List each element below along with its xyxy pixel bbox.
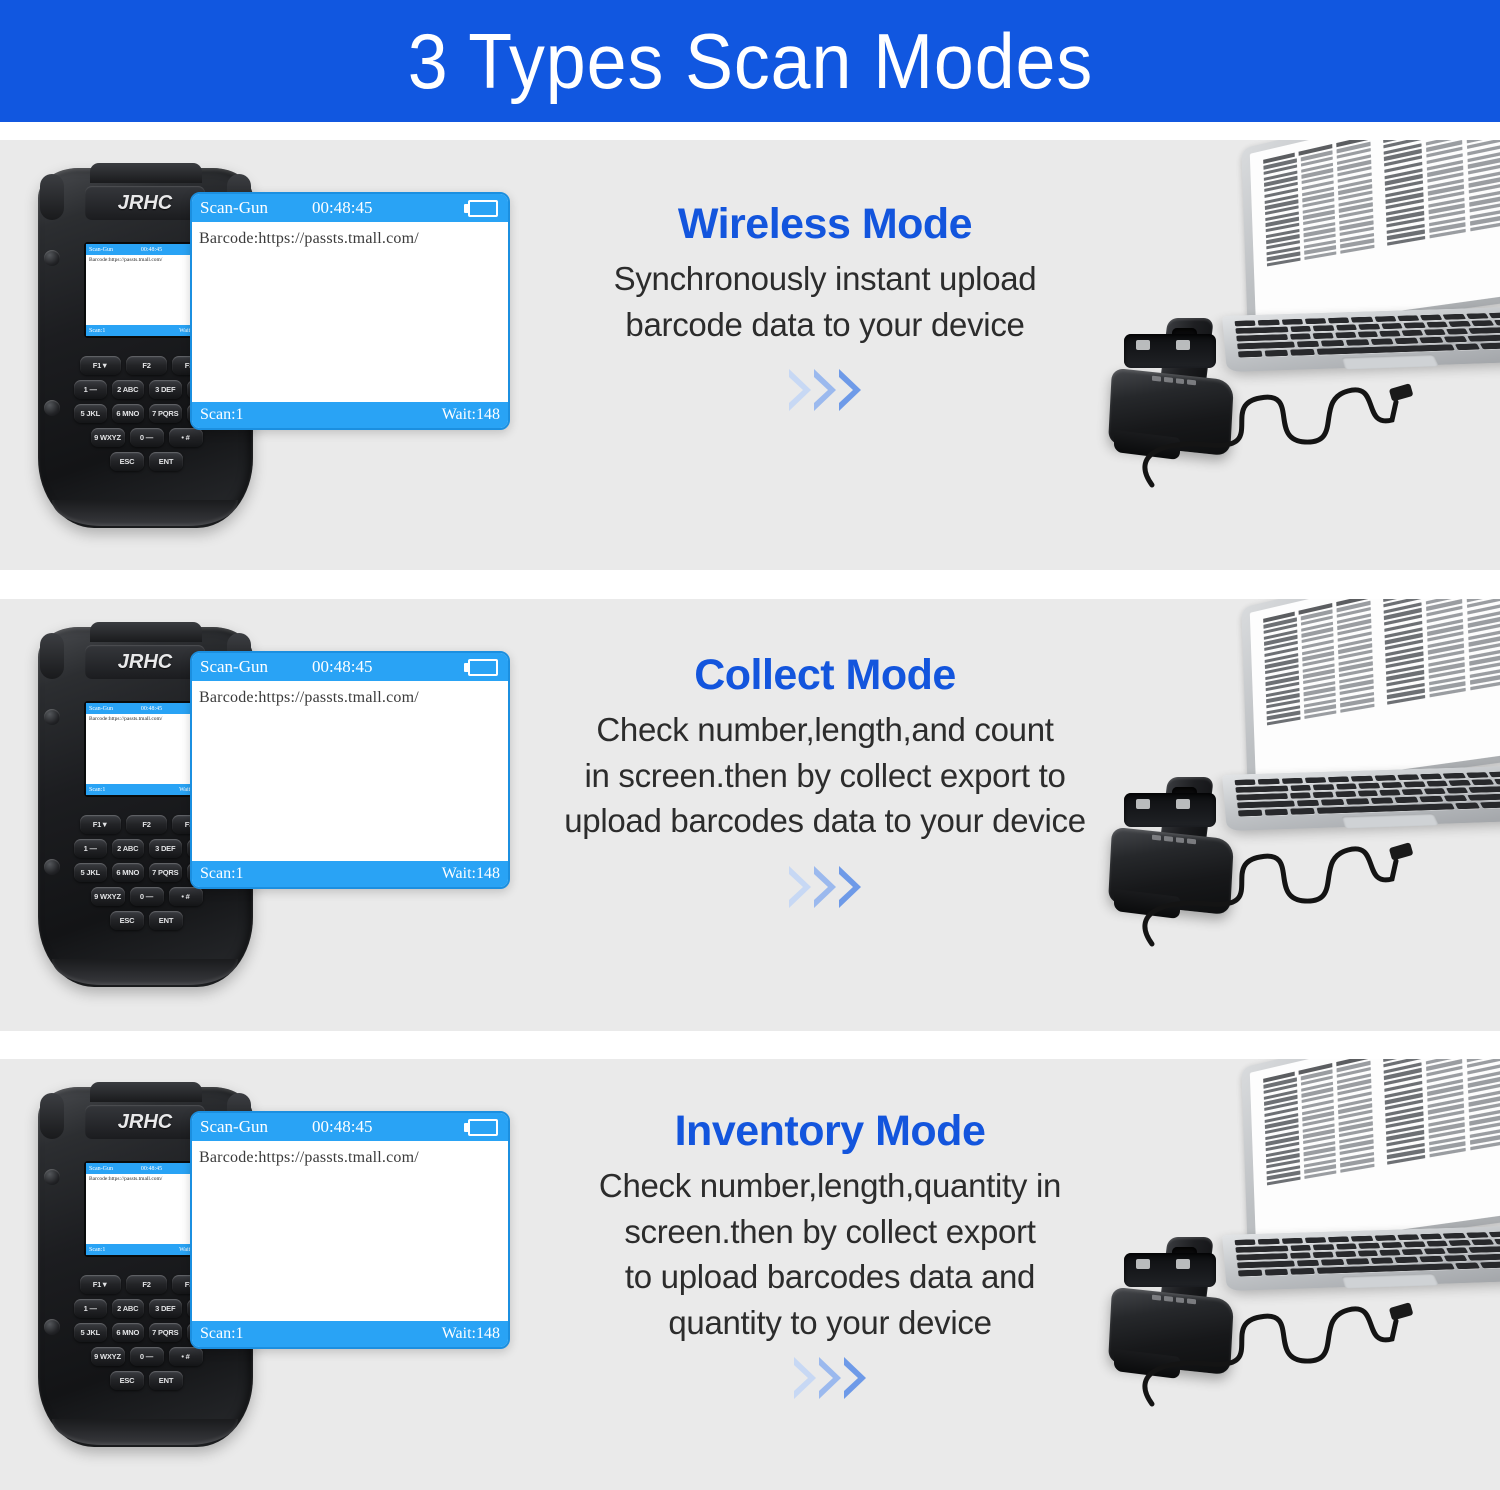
lcd-app-name: Scan-Gun [200,657,312,677]
lcd-app-name: Scan-Gun [200,1117,312,1137]
device-shoulder-left [40,633,64,679]
mode-panel-inventory: JRHC Scan-Gun 00:48:45 Barcode:https://p… [0,1059,1500,1490]
computer-and-cradle-group [1100,599,1500,1031]
keypad-row: 9 WXYZ 0 — • # [74,1347,219,1366]
device-bottom-rim [52,500,238,526]
mode-title: Collect Mode [505,651,1145,699]
mode-description-line: to upload barcodes data and [530,1254,1130,1300]
brand-logo: JRHC [118,651,172,674]
device-screw-icon [44,1169,60,1185]
mode-description: Check number,length,and count in screen.… [505,707,1145,844]
mode-description: Check number,length,quantity in screen.t… [530,1163,1130,1345]
inline-barcode-text: Barcode:https://passts.tmall.com/ [86,255,204,325]
battery-icon [464,199,498,218]
mode-description-line: Check number,length,and count [505,707,1145,753]
mode-description-line: Check number,length,quantity in [530,1163,1130,1209]
lcd-titlebar: Scan-Gun 00:48:45 [192,653,508,681]
computer-and-cradle-group [1100,1059,1500,1490]
key-6[interactable]: 6 MNO [112,1323,145,1342]
mode-description-line: quantity to your device [530,1300,1130,1346]
inline-clock: 00:48:45 [141,247,162,253]
lcd-statusbar: Scan:1 Wait:148 [192,861,508,887]
chevron-right-icon [819,1357,841,1399]
lcd-barcode-text: Barcode:https://passts.tmall.com/ [192,1141,508,1321]
lcd-scan-count: Scan:1 [200,865,244,883]
computer-and-cradle-group [1100,140,1500,570]
inline-app-name: Scan-Gun [89,247,113,253]
mode-description-line: screen.then by collect export [530,1209,1130,1255]
key-6[interactable]: 6 MNO [112,863,145,882]
key-3[interactable]: 3 DEF [149,380,182,399]
chevron-right-icon [844,1357,866,1399]
inline-screen-titlebar: Scan-Gun 00:48:45 [86,244,204,255]
device-inline-screen: Scan-Gun 00:48:45 Barcode:https://passts… [86,1163,204,1255]
inline-screen-statusbar: Scan:1 Wait:148 [86,325,204,336]
mode-description-line: upload barcodes data to your device [505,798,1145,844]
key-9[interactable]: 9 WXYZ [91,428,125,447]
key-2[interactable]: 2 ABC [112,380,145,399]
brand-plate: JRHC [85,1105,205,1139]
key-2[interactable]: 2 ABC [112,839,145,858]
inline-barcode-text: Barcode:https://passts.tmall.com/ [86,1174,204,1244]
chevron-right-icon [789,369,811,411]
lcd-scan-count: Scan:1 [200,406,244,424]
key-7[interactable]: 7 PQRS [149,404,182,423]
mode-description: Synchronously instant upload barcode dat… [530,256,1120,347]
keypad-row: ESC ENT [74,452,219,471]
key-2[interactable]: 2 ABC [112,1299,145,1318]
enlarged-screen-popup: Scan-Gun 00:48:45 Barcode:https://passts… [190,1111,510,1349]
brand-logo: JRHC [118,192,172,215]
mode-description-line: Synchronously instant upload [530,256,1120,302]
key-9[interactable]: 9 WXYZ [91,887,125,906]
mode-textblock: Collect Mode Check number,length,and cou… [505,651,1145,908]
spreadsheet-column [1383,599,1500,762]
inline-app-name: Scan-Gun [89,1166,113,1172]
page-title: 3 Types Scan Modes [407,22,1092,100]
lcd-barcode-text: Barcode:https://passts.tmall.com/ [192,222,508,402]
page-header: 3 Types Scan Modes [0,0,1500,122]
lcd-statusbar: Scan:1 Wait:148 [192,402,508,428]
key-6[interactable]: 6 MNO [112,404,145,423]
spreadsheet-column [1383,140,1500,303]
lcd-barcode-text: Barcode:https://passts.tmall.com/ [192,681,508,861]
key-3[interactable]: 3 DEF [149,1299,182,1318]
key-f1[interactable]: F1▼ [80,1275,121,1294]
usb-cable [1100,290,1500,490]
device-inline-screen: Scan-Gun 00:48:45 Barcode:https://passts… [86,244,204,336]
chevron-right-icon [789,866,811,908]
key-f2[interactable]: F2 [126,356,167,375]
key-symbol[interactable]: • # [169,887,203,906]
inline-clock: 00:48:45 [141,1166,162,1172]
device-top-notch [90,622,202,642]
lcd-scan-count: Scan:1 [200,1325,244,1343]
key-f1[interactable]: F1▼ [80,356,121,375]
key-ent[interactable]: ENT [149,1371,183,1390]
brand-logo: JRHC [118,1111,172,1134]
device-top-notch [90,163,202,183]
usb-cable [1100,1209,1500,1409]
mode-title: Inventory Mode [530,1107,1130,1155]
inline-scan-count: Scan:1 [89,787,105,793]
device-shoulder-left [40,174,64,220]
lcd-clock: 00:48:45 [312,657,464,677]
mode-title: Wireless Mode [530,200,1120,248]
device-top-notch [90,1082,202,1102]
device-screw-icon [44,400,60,416]
panel-divider [0,1031,1500,1059]
device-bottom-rim [52,1419,238,1445]
chevron-right-icon [794,1357,816,1399]
chevron-right-icon [814,866,836,908]
key-5[interactable]: 5 JKL [74,1323,107,1342]
enlarged-screen-popup: Scan-Gun 00:48:45 Barcode:https://passts… [190,651,510,889]
key-ent[interactable]: ENT [149,452,183,471]
panel-divider [0,570,1500,599]
key-0[interactable]: 0 — [130,1347,164,1366]
device-screw-icon [44,1319,60,1335]
keypad-row: 9 WXYZ 0 — • # [74,428,219,447]
device-inline-screen-frame: Scan-Gun 00:48:45 Barcode:https://passts… [84,242,206,338]
device-inline-screen-frame: Scan-Gun 00:48:45 Barcode:https://passts… [84,701,206,797]
key-symbol[interactable]: • # [169,1347,203,1366]
chevron-right-icon [814,369,836,411]
key-f2[interactable]: F2 [126,1275,167,1294]
inline-screen-titlebar: Scan-Gun 00:48:45 [86,703,204,714]
key-5[interactable]: 5 JKL [74,404,107,423]
key-f1[interactable]: F1▼ [80,815,121,834]
inline-scan-count: Scan:1 [89,1247,105,1253]
lcd-titlebar: Scan-Gun 00:48:45 [192,194,508,222]
lcd-wait-count: Wait:148 [442,406,500,424]
device-bottom-rim [52,959,238,985]
keypad-row: ESC ENT [74,1371,219,1390]
mode-description-line: barcode data to your device [530,302,1120,348]
flow-arrows [530,369,1120,411]
device-screw-icon [44,250,60,266]
enlarged-screen-popup: Scan-Gun 00:48:45 Barcode:https://passts… [190,192,510,430]
key-3[interactable]: 3 DEF [149,839,182,858]
flow-arrows [505,866,1145,908]
key-esc[interactable]: ESC [110,911,144,930]
device-inline-screen: Scan-Gun 00:48:45 Barcode:https://passts… [86,703,204,795]
mode-textblock: Wireless Mode Synchronously instant uplo… [530,200,1120,411]
key-f2[interactable]: F2 [126,815,167,834]
key-9[interactable]: 9 WXYZ [91,1347,125,1366]
flow-arrows [530,1357,1130,1399]
battery-icon [464,1118,498,1137]
battery-icon [464,658,498,677]
lcd-statusbar: Scan:1 Wait:148 [192,1321,508,1347]
keypad-row: 9 WXYZ 0 — • # [74,887,219,906]
key-1[interactable]: 1 — [74,1299,107,1318]
device-screw-icon [44,709,60,725]
mode-panel-collect: JRHC Scan-Gun 00:48:45 Barcode:https://p… [0,599,1500,1031]
inline-barcode-text: Barcode:https://passts.tmall.com/ [86,714,204,784]
usb-cable [1100,749,1500,949]
lcd-titlebar: Scan-Gun 00:48:45 [192,1113,508,1141]
inline-screen-titlebar: Scan-Gun 00:48:45 [86,1163,204,1174]
lcd-clock: 00:48:45 [312,198,464,218]
key-1[interactable]: 1 — [74,839,107,858]
keypad-row: ESC ENT [74,911,219,930]
mode-description-line: in screen.then by collect export to [505,753,1145,799]
device-shoulder-left [40,1093,64,1139]
key-7[interactable]: 7 PQRS [149,863,182,882]
lcd-wait-count: Wait:148 [442,865,500,883]
key-5[interactable]: 5 JKL [74,863,107,882]
lcd-wait-count: Wait:148 [442,1325,500,1343]
inline-scan-count: Scan:1 [89,328,105,334]
inline-screen-statusbar: Scan:1 Wait:148 [86,1244,204,1255]
inline-app-name: Scan-Gun [89,706,113,712]
key-0[interactable]: 0 — [130,887,164,906]
chevron-right-icon [839,369,861,411]
key-esc[interactable]: ESC [110,452,144,471]
inline-clock: 00:48:45 [141,706,162,712]
spreadsheet-column [1383,1059,1500,1222]
lcd-app-name: Scan-Gun [200,198,312,218]
lcd-clock: 00:48:45 [312,1117,464,1137]
key-0[interactable]: 0 — [130,428,164,447]
device-screw-icon [44,859,60,875]
mode-textblock: Inventory Mode Check number,length,quant… [530,1107,1130,1399]
inline-screen-statusbar: Scan:1 Wait:148 [86,784,204,795]
key-ent[interactable]: ENT [149,911,183,930]
device-inline-screen-frame: Scan-Gun 00:48:45 Barcode:https://passts… [84,1161,206,1257]
mode-panel-wireless: JRHC Scan-Gun 00:48:45 Barcode:https://p… [0,140,1500,570]
key-symbol[interactable]: • # [169,428,203,447]
chevron-right-icon [839,866,861,908]
key-esc[interactable]: ESC [110,1371,144,1390]
key-1[interactable]: 1 — [74,380,107,399]
key-7[interactable]: 7 PQRS [149,1323,182,1342]
brand-plate: JRHC [85,186,205,220]
brand-plate: JRHC [85,645,205,679]
